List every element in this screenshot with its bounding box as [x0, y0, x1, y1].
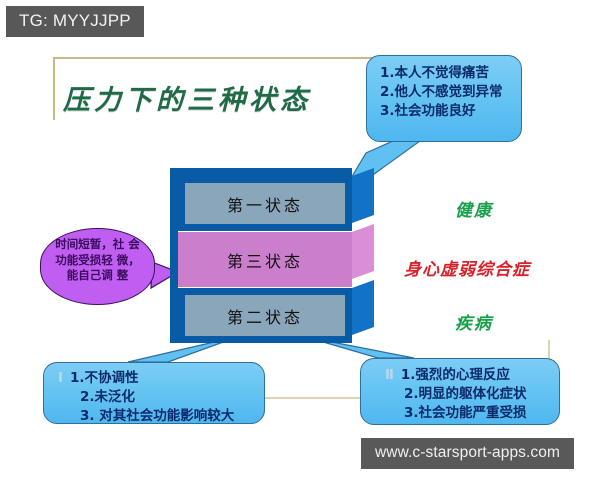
callout-bottom-right-line-1: Ⅱ1.强烈的心理反应: [385, 366, 559, 385]
state-one-slab[interactable]: 第一状态: [178, 176, 352, 231]
callout-bottom-left[interactable]: Ⅰ1.不协调性 2.未泛化 3. 对其社会功能影响较大: [43, 362, 265, 424]
state-three-slab[interactable]: 第三状态: [178, 232, 352, 287]
callout-top-right-line-1: 1.本人不觉得痛苦: [380, 64, 521, 83]
three-state-box: 第一状态 第三状态 第二状态: [178, 176, 374, 343]
telegram-watermark-badge: TG: MYYJJPP: [6, 6, 144, 37]
state-two-label: 第二状态: [178, 288, 352, 343]
callout-bottom-right-line-3: 3.社会功能严重受损: [385, 404, 559, 423]
state-two-slab[interactable]: 第二状态: [178, 288, 352, 343]
side-label-illness: 疾病: [455, 309, 493, 334]
state-one-label: 第一状态: [178, 176, 352, 231]
callout-left-text: 时间短暂，社 会功能受损轻 微，能自己调 整: [41, 229, 154, 284]
box-left-face: [170, 168, 178, 343]
callout-left-line-1: 时间短暂，社: [55, 237, 124, 251]
page-title: 压力下的三种状态: [63, 78, 363, 117]
callout-bottom-right-line-2: 2.明显的躯体化症状: [385, 385, 559, 404]
state-three-label: 第三状态: [178, 232, 352, 287]
gold-rule-top-left-vertical: [53, 57, 55, 120]
side-label-healthy: 健康: [455, 196, 493, 221]
box-depth-state-one: [352, 168, 374, 223]
callout-bottom-right[interactable]: Ⅱ1.强烈的心理反应 2.明显的躯体化症状 3.社会功能严重受损: [360, 358, 560, 425]
callout-left-line-4: 整: [117, 268, 129, 282]
callout-top-right-line-2: 2.他人不感觉到异常: [380, 83, 521, 102]
callout-bottom-right-marker: Ⅱ: [385, 367, 394, 383]
callout-bottom-right-text: Ⅱ1.强烈的心理反应 2.明显的躯体化症状 3.社会功能严重受损: [361, 359, 559, 423]
callout-bottom-right-line-1-text: 1.强烈的心理反应: [401, 367, 510, 383]
callout-top-right-text: 1.本人不觉得痛苦 2.他人不感觉到异常 3.社会功能良好: [367, 56, 521, 121]
callout-bottom-left-line-1: Ⅰ1.不协调性: [58, 369, 264, 388]
side-label-syndrome: 身心虚弱综合症: [404, 255, 530, 280]
callout-left[interactable]: 时间短暂，社 会功能受损轻 微，能自己调 整: [40, 228, 155, 305]
gold-rule-top: [53, 57, 402, 59]
box-depth-state-three: [352, 224, 374, 279]
callout-top-right[interactable]: 1.本人不觉得痛苦 2.他人不感觉到异常 3.社会功能良好: [366, 55, 522, 142]
box-depth-state-two: [352, 280, 374, 335]
callout-bottom-left-line-3: 3. 对其社会功能影响较大: [58, 407, 264, 426]
callout-bottom-left-line-2: 2.未泛化: [58, 388, 264, 407]
box-top-face: [178, 168, 352, 176]
site-url-watermark: www.c-starsport-apps.com: [361, 438, 574, 469]
callout-bottom-left-line-1-text: 1.不协调性: [70, 370, 139, 386]
diagram-canvas: 压力下的三种状态 第一状态 第三状态 第二状态 健康 身心虚弱综合症 疾病: [0, 0, 600, 480]
callout-bottom-left-marker: Ⅰ: [58, 370, 63, 386]
callout-bottom-left-text: Ⅰ1.不协调性 2.未泛化 3. 对其社会功能影响较大: [44, 363, 264, 426]
callout-top-right-line-3: 3.社会功能良好: [380, 102, 521, 121]
